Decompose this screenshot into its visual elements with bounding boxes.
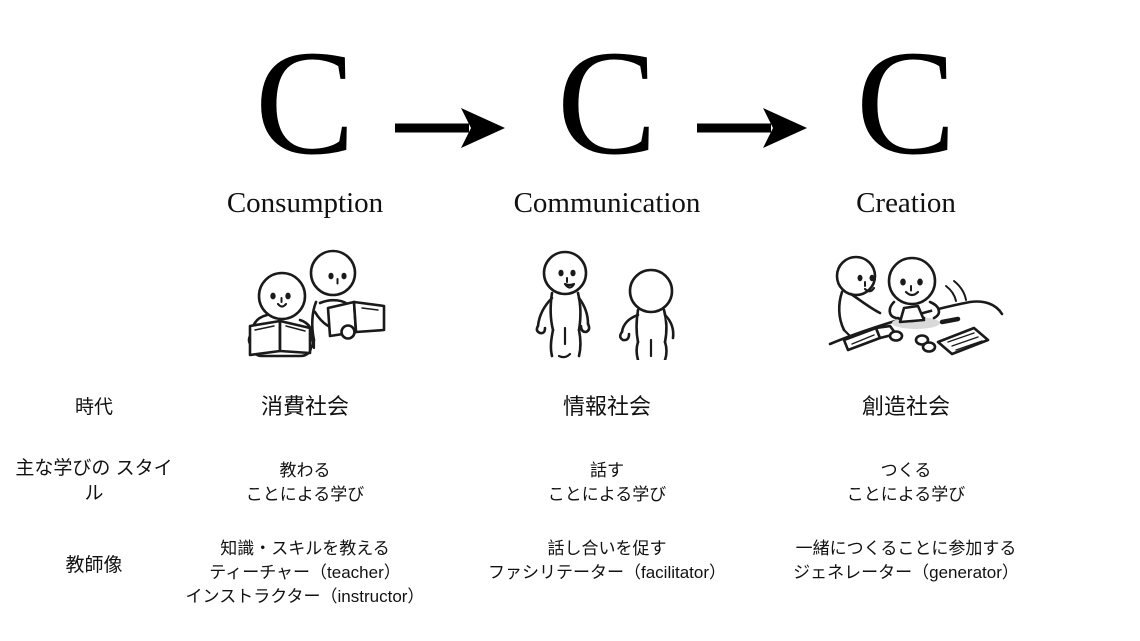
- teacher-text-communication-line2: ファシリテーター（facilitator）: [442, 561, 772, 585]
- cell-era-consumption: 消費社会: [140, 392, 470, 422]
- cell-style-consumption: 教わる ことによる学び: [140, 459, 470, 507]
- cell-era-creation: 創造社会: [741, 392, 1071, 422]
- illustration-reading-figure-right: [300, 240, 392, 355]
- illustration-two-people-creating-together: [818, 248, 1018, 368]
- right-arrow-icon-1: [395, 106, 505, 155]
- style-text-communication-line1: 話す: [442, 459, 772, 483]
- big-letter-c-creation: C: [806, 28, 1006, 178]
- stage-name-consumption: Consumption: [155, 186, 455, 220]
- teacher-text-consumption-line3: インストラクター（instructor）: [140, 585, 470, 609]
- stage-sequence-band: C C C: [0, 28, 1140, 188]
- stage-name-creation: Creation: [756, 186, 1056, 220]
- row-label-teacher-image-line1: 教師像: [65, 555, 122, 576]
- cell-style-creation: つくる ことによる学び: [741, 459, 1071, 507]
- style-text-communication-line2: ことによる学び: [442, 483, 772, 507]
- style-text-creation-line2: ことによる学び: [741, 483, 1071, 507]
- row-label-learning-style-line1: 主な学びの: [15, 458, 110, 479]
- era-text-consumption: 消費社会: [140, 392, 470, 422]
- teacher-text-consumption-line1: 知識・スキルを教える: [140, 537, 470, 561]
- big-letter-c-consumption: C: [205, 28, 405, 178]
- illustration-two-people-talking: [525, 248, 695, 365]
- cell-era-communication: 情報社会: [442, 392, 772, 422]
- era-text-communication: 情報社会: [442, 392, 772, 422]
- era-text-creation: 創造社会: [741, 392, 1071, 422]
- cell-teacher-communication: 話し合いを促す ファシリテーター（facilitator）: [442, 537, 772, 585]
- teacher-text-creation-line2: ジェネレーター（generator）: [741, 561, 1071, 585]
- row-label-era-line1: 時代: [75, 397, 113, 418]
- style-text-consumption-line1: 教わる: [140, 459, 470, 483]
- cell-style-communication: 話す ことによる学び: [442, 459, 772, 507]
- stage-name-communication: Communication: [457, 186, 757, 220]
- right-arrow-icon-2: [697, 106, 807, 155]
- big-letter-c-communication: C: [507, 28, 707, 178]
- teacher-text-communication-line1: 話し合いを促す: [442, 537, 772, 561]
- cell-teacher-creation: 一緒につくることに参加する ジェネレーター（generator）: [741, 537, 1071, 585]
- teacher-text-creation-line1: 一緒につくることに参加する: [741, 537, 1071, 561]
- cell-teacher-consumption: 知識・スキルを教える ティーチャー（teacher） インストラクター（inst…: [140, 537, 470, 609]
- style-text-consumption-line2: ことによる学び: [140, 483, 470, 507]
- style-text-creation-line1: つくる: [741, 459, 1071, 483]
- teacher-text-consumption-line2: ティーチャー（teacher）: [140, 561, 470, 585]
